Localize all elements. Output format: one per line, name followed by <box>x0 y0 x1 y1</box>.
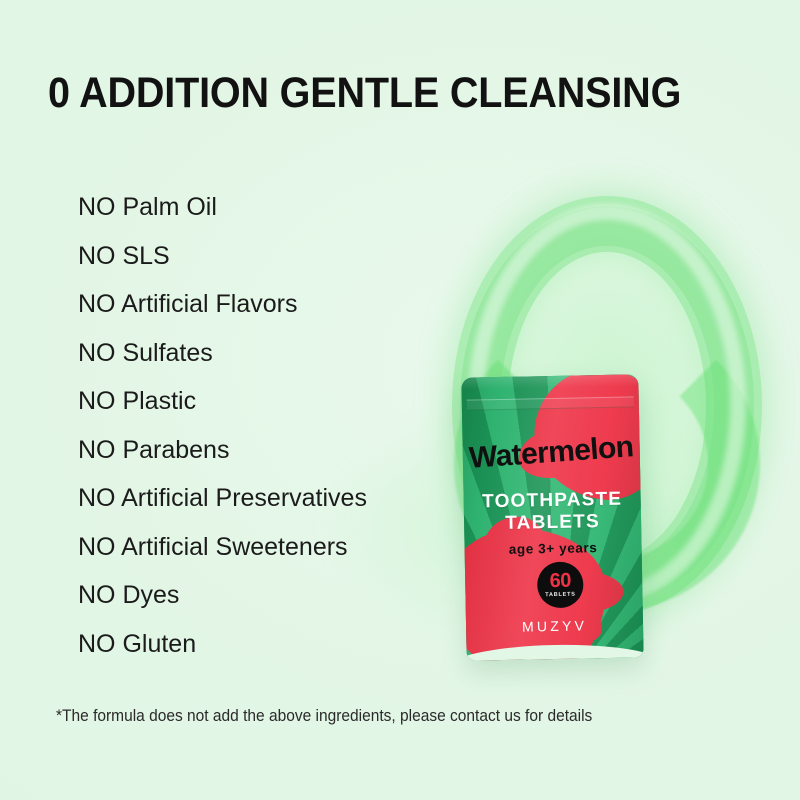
product-poster: 0 ADDITION GENTLE CLEANSING NO Palm Oil … <box>0 0 800 800</box>
product-name-line2: TABLETS <box>464 510 641 535</box>
list-item: NO Dyes <box>78 571 478 620</box>
list-item: NO Plastic <box>78 377 478 426</box>
badge-count: 60 <box>549 571 571 591</box>
footnote: *The formula does not add the above ingr… <box>56 707 592 726</box>
badge-unit: TABLETS <box>545 593 576 599</box>
list-item: NO Artificial Preservatives <box>78 474 478 523</box>
brand-name: MUZYV <box>466 616 643 635</box>
page-title: 0 ADDITION GENTLE CLEANSING <box>48 68 681 118</box>
list-item: NO Palm Oil <box>78 183 478 232</box>
list-item: NO Artificial Flavors <box>78 280 478 329</box>
benefit-list: NO Palm Oil NO SLS NO Artificial Flavors… <box>78 183 478 668</box>
list-item: NO Parabens <box>78 426 478 475</box>
list-item: NO Sulfates <box>78 329 478 378</box>
product-package: Watermelon TOOTHPASTE TABLETS age 3+ yea… <box>461 374 643 660</box>
list-item: NO Gluten <box>78 620 478 669</box>
list-item: NO Artificial Sweeteners <box>78 523 478 572</box>
list-item: NO SLS <box>78 232 478 281</box>
